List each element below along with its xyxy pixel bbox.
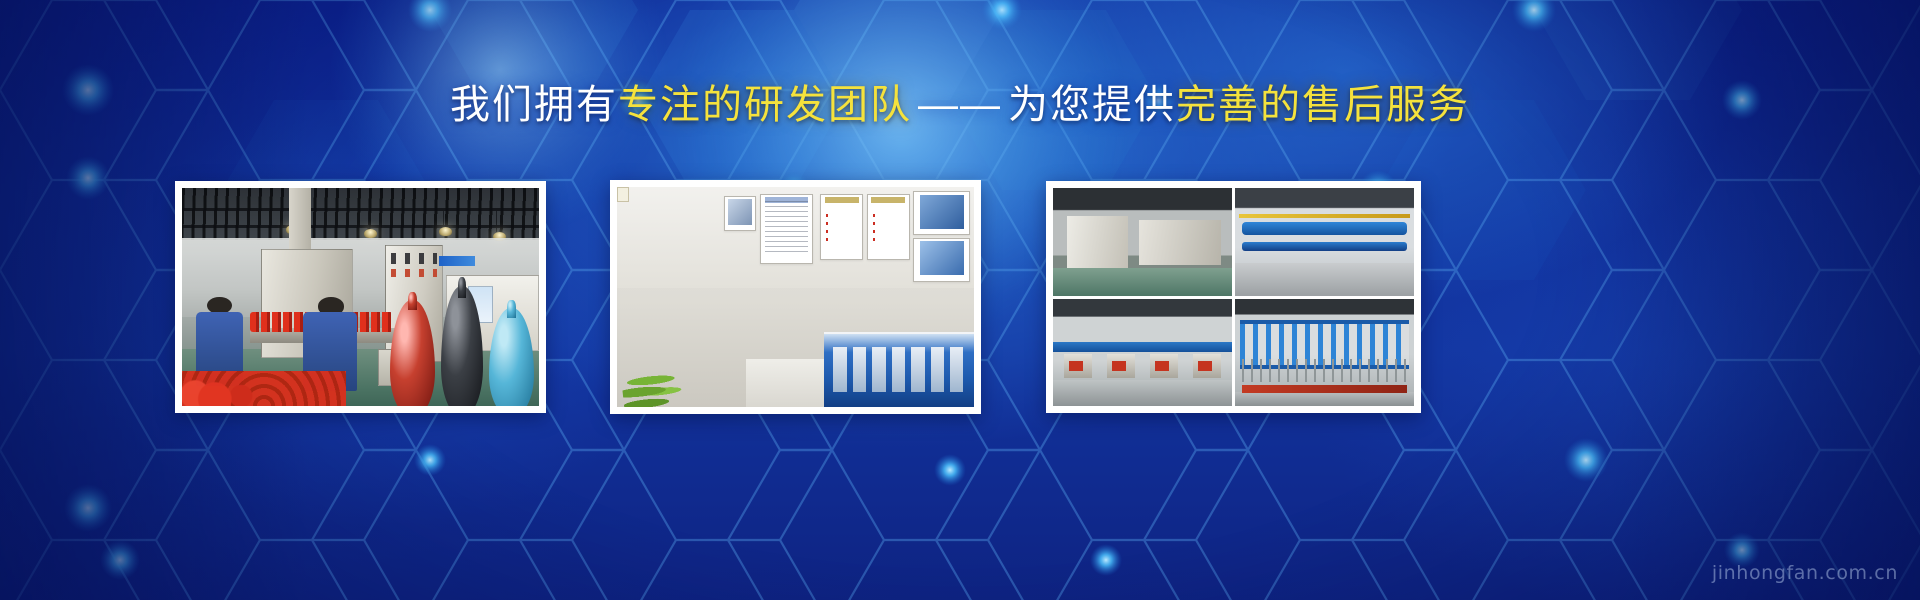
foreground-plant <box>617 332 710 407</box>
page-title: 我们拥有专注的研发团队——为您提供完善的售后服务 <box>0 82 1920 129</box>
collage-cell-conveyor-carts <box>1053 299 1232 407</box>
headline-segment-dash: —— <box>912 83 1008 127</box>
photo-production-line <box>182 188 539 406</box>
inset-machine-photo <box>824 332 974 407</box>
photo-card-equipment-collage[interactable] <box>1046 181 1421 413</box>
photo-card-production-line[interactable] <box>175 181 546 413</box>
headline-segment-2: 专注的研发团队 <box>618 83 912 127</box>
site-watermark: jinhongfan.com.cn <box>1712 562 1898 584</box>
collage-cell-hanging-line <box>1235 299 1414 407</box>
promo-banner: 我们拥有专注的研发团队——为您提供完善的售后服务 <box>0 0 1920 600</box>
headline-segment-3: 为您提供 <box>1008 83 1176 127</box>
headline-segment-4: 完善的售后服务 <box>1176 83 1470 127</box>
photo-team-meeting <box>617 187 974 407</box>
photo-card-team-meeting[interactable] <box>610 180 981 414</box>
collage-cell-oven-line <box>1053 188 1232 296</box>
collage-cell-blue-ductwork <box>1235 188 1414 296</box>
photo-card-row <box>0 181 1920 413</box>
headline-segment-1: 我们拥有 <box>450 83 618 127</box>
photo-equipment-collage <box>1053 188 1414 406</box>
product-vases-overlay <box>387 281 537 406</box>
